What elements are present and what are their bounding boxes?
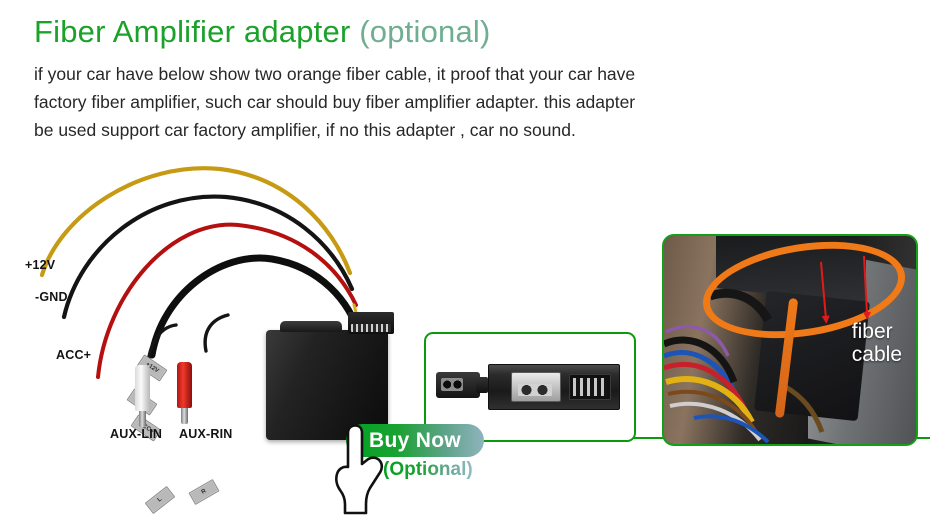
rca-right-tip: [181, 408, 188, 424]
fiber-port-slot: [511, 372, 561, 402]
label-ground: -GND: [35, 290, 68, 304]
label-acc: ACC+: [56, 348, 91, 362]
page-title: Fiber Amplifier adapter (optional): [34, 14, 491, 50]
fiber-cable-caption-line-2: cable: [852, 343, 902, 366]
hand-cursor-icon: [334, 424, 390, 516]
label-power: +12V: [25, 258, 55, 272]
wire-tag-aux-right: R: [188, 479, 219, 505]
fiber-cable-caption-line-1: fiber: [852, 320, 902, 343]
photo-scene: fiber cable: [664, 236, 916, 444]
connector-pins: [351, 324, 391, 332]
fiber-cable-caption: fiber cable: [852, 320, 902, 366]
adapter-side-view: [488, 364, 620, 410]
buy-now-optional-note: (Optional): [383, 459, 473, 481]
product-banner: Fiber Amplifier adapter (optional) if yo…: [0, 0, 930, 528]
car-fiber-cable-photo: fiber cable: [662, 234, 918, 446]
rca-left-body: [135, 365, 150, 411]
description-line-1: if your car have below show two orange f…: [34, 60, 824, 88]
page-title-main: Fiber Amplifier adapter: [34, 14, 359, 49]
rca-left-tip: [139, 411, 146, 427]
rca-connector-right: [177, 362, 192, 424]
adapter-module-connector: [348, 312, 394, 334]
rca-connector-left: [135, 365, 150, 427]
fiber-optic-plug: [436, 372, 480, 398]
description-paragraph: if your car have below show two orange f…: [34, 60, 824, 144]
wire-tag-aux-left: L: [145, 486, 176, 514]
description-line-3: be used support car factory amplifier, i…: [34, 116, 824, 144]
rca-right-body: [177, 362, 192, 408]
page-title-optional: (optional): [359, 14, 490, 49]
adapter-pin-header: [569, 374, 611, 400]
label-aux-right: AUX-RIN: [179, 427, 232, 441]
label-aux-left: AUX-LIN: [110, 427, 162, 441]
description-line-2: factory fiber amplifier, such car should…: [34, 88, 824, 116]
